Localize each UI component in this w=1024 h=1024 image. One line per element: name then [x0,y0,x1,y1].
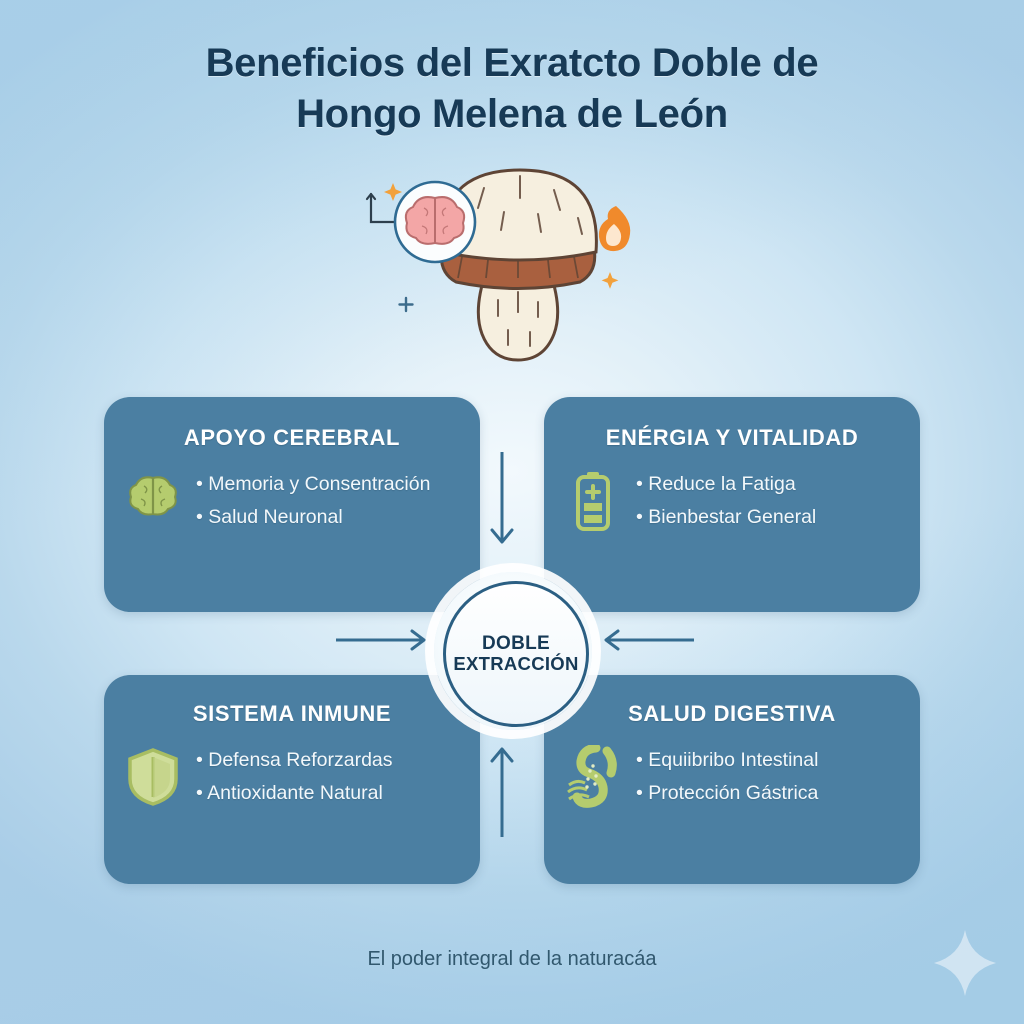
battery-icon [558,465,628,537]
stomach-icon [558,741,628,813]
card-body: Memoria y Consentración Salud Neuronal [104,465,480,537]
card-energia-vitalidad[interactable]: ENÉRGIA Y VITALIDAD Reduce la Fatiga Bie… [544,397,920,612]
title-line-2: Hongo Melena de León [0,89,1024,140]
list-item: Protección Gástrica [636,784,818,804]
card-body: Defensa Reforzardas Antioxidante Natural [104,741,480,813]
card-bullets: Equiibribo Intestinal Protección Gástric… [628,751,818,804]
brain-icon [118,465,188,537]
doble-extraccion-hub[interactable]: DOBLE EXTRACCIÓN [443,581,589,727]
card-body: Equiibribo Intestinal Protección Gástric… [544,741,920,813]
brain-icon [406,197,464,244]
list-item: Antioxidante Natural [196,784,393,804]
flame-icon [599,206,630,251]
arrow-up-icon [489,745,515,842]
hub-line-2: EXTRACCIÓN [453,654,578,675]
card-bullets: Memoria y Consentración Salud Neuronal [188,475,430,528]
card-title: SALUD DIGESTIVA [544,701,920,727]
arrow-down-icon [489,452,515,559]
card-salud-digestiva[interactable]: SALUD DIGESTIVA [544,675,920,884]
infographic-canvas: Beneficios del Exratcto Doble de Hongo M… [0,0,1024,1024]
card-title: APOYO CEREBRAL [104,425,480,451]
mushroom-illustration [338,160,658,375]
arrow-left-icon [600,628,694,657]
list-item: Equiibribo Intestinal [636,751,818,771]
list-item: Defensa Reforzardas [196,751,393,771]
card-body: Reduce la Fatiga Bienbestar General [544,465,920,537]
arrow-right-icon [336,628,430,657]
shield-icon [118,741,188,813]
card-apoyo-cerebral[interactable]: APOYO CEREBRAL Memoria y Consentración [104,397,480,612]
list-item: Reduce la Fatiga [636,475,816,495]
title-line-1: Beneficios del Exratcto Doble de [206,41,819,85]
card-bullets: Reduce la Fatiga Bienbestar General [628,475,816,528]
list-item: Salud Neuronal [196,508,430,528]
card-title: SISTEMA INMUNE [104,701,480,727]
footer-tagline: El poder integral de la naturacáa [0,948,1024,971]
hub-line-1: DOBLE [482,633,550,654]
page-title: Beneficios del Exratcto Doble de Hongo M… [0,38,1024,140]
hero-illustration [338,160,658,375]
card-bullets: Defensa Reforzardas Antioxidante Natural [188,751,393,804]
list-item: Memoria y Consentración [196,475,430,495]
card-title: ENÉRGIA Y VITALIDAD [544,425,920,451]
sparkle-icon [934,930,996,996]
card-sistema-inmune[interactable]: SISTEMA INMUNE Defensa Reforzardas Antio… [104,675,480,884]
list-item: Bienbestar General [636,508,816,528]
